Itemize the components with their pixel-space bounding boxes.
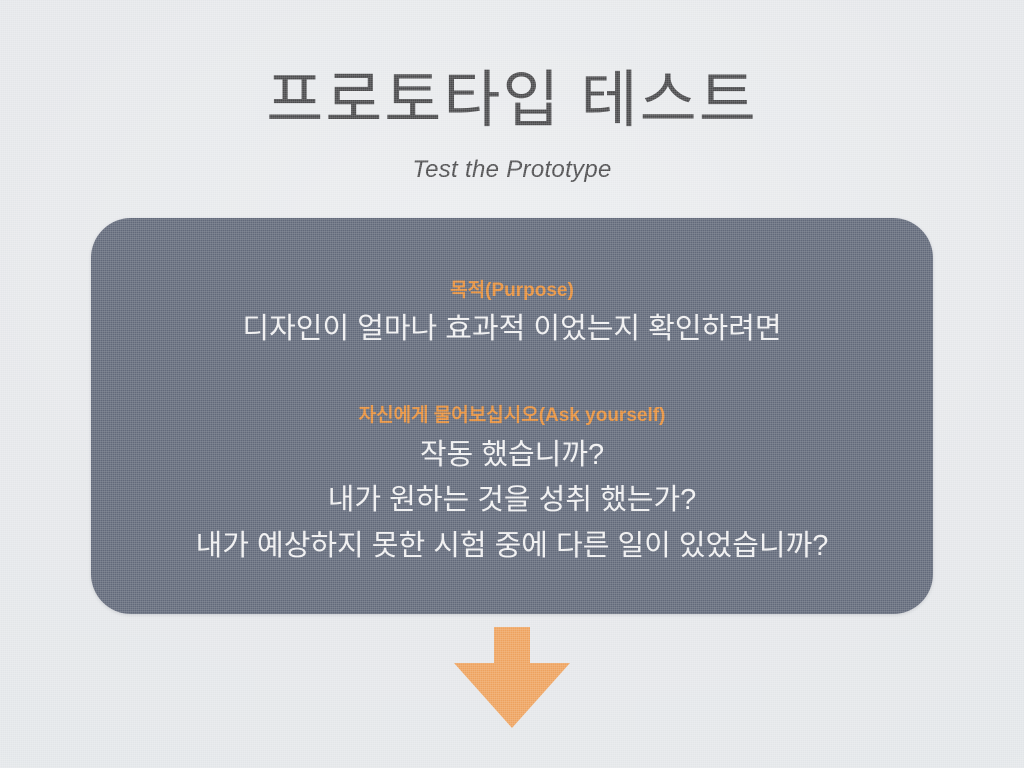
page-subtitle: Test the Prototype xyxy=(0,156,1024,184)
section-heading-purpose: 목적(Purpose) xyxy=(91,275,933,302)
ask-line-1: 작동 했습니까? xyxy=(91,431,933,473)
section-heading-ask-yourself: 자신에게 물어보십시오(Ask yourself) xyxy=(91,400,933,427)
page-title: 프로토타입 테스트 xyxy=(0,68,1024,133)
ask-line-3: 내가 예상하지 못한 시험 중에 다른 일이 있었습니까? xyxy=(91,522,933,564)
purpose-line-1: 디자인이 얼마나 효과적 이었는지 확인하려면 xyxy=(91,305,933,347)
slide-canvas: 프로토타입 테스트 Test the Prototype 목적(Purpose)… xyxy=(0,0,1024,768)
ask-line-2: 내가 원하는 것을 성취 했는가? xyxy=(91,476,933,518)
content-panel: 목적(Purpose) 디자인이 얼마나 효과적 이었는지 확인하려면 자신에게… xyxy=(91,218,933,614)
arrow-down-icon xyxy=(454,627,570,728)
